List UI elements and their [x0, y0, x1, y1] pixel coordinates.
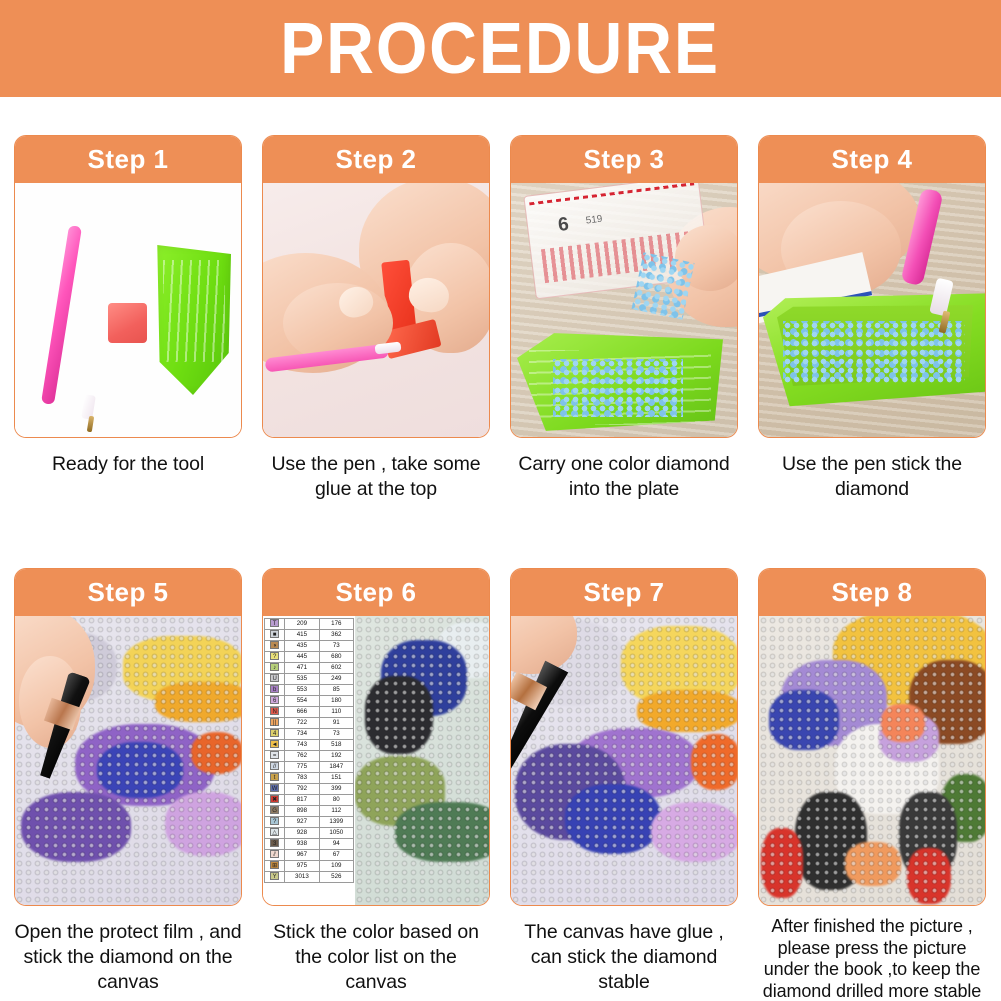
color-chart-count-cell: 73 [319, 729, 353, 740]
color-chart-code-cell: 938 [285, 839, 319, 850]
color-chart-table: T209176■415362◑43573?445680♪471602U53524… [264, 618, 354, 883]
color-chart-symbol-cell: U [265, 674, 285, 685]
color-chart-symbol-cell: ? [265, 817, 285, 828]
color-swatch-icon: // [270, 762, 279, 770]
step-8-frame: Step 8 [758, 568, 986, 906]
color-chart-symbol-cell: || [265, 718, 285, 729]
color-chart-symbol-cell: ✖ [265, 795, 285, 806]
color-chart-count-cell: 1847 [319, 762, 353, 773]
color-chart-count-cell: 602 [319, 663, 353, 674]
steps-row-top: Step 1 Ready for the tool Step 2 [14, 135, 987, 502]
color-chart-symbol-cell: 3 [265, 839, 285, 850]
step-7-caption: The canvas have glue , can stick the dia… [510, 920, 738, 995]
color-swatch-icon: ◑ [270, 641, 279, 649]
color-swatch-icon: ? [270, 817, 279, 825]
color-chart-code-cell: 666 [285, 707, 319, 718]
pink-pen-icon [41, 225, 82, 405]
color-swatch-icon: t [270, 773, 279, 781]
color-swatch-icon: b [270, 685, 279, 693]
color-chart-count-cell: 1399 [319, 817, 353, 828]
mosaic-canvas-illustration [15, 616, 241, 905]
step-7-badge: Step 7 [511, 569, 737, 616]
color-swatch-icon: 4 [270, 729, 279, 737]
color-chart-count-cell: 362 [319, 630, 353, 641]
color-chart-row: ?445680 [265, 652, 354, 663]
step-2-caption: Use the pen , take some glue at the top [262, 452, 490, 502]
color-chart-count-cell: 680 [319, 652, 353, 663]
step-1-frame: Step 1 [14, 135, 242, 438]
step-card-7: Step 7 [510, 568, 738, 1001]
color-chart-code-cell: 927 [285, 817, 319, 828]
color-chart-row: b55385 [265, 685, 354, 696]
color-chart-count-cell: 110 [319, 707, 353, 718]
color-chart-row: t783151 [265, 773, 354, 784]
step-2-frame: Step 2 [262, 135, 490, 438]
color-chart-symbol-cell: t [265, 773, 285, 784]
step-3-caption: Carry one color diamond into the plate [510, 452, 738, 502]
color-swatch-icon: ? [270, 652, 279, 660]
diamond-bead-grid [759, 616, 985, 905]
color-swatch-icon: ⫽ [270, 850, 279, 858]
color-symbol-chart: T209176■415362◑43573?445680♪471602U53524… [263, 616, 355, 905]
procedure-infographic: PROCEDURE Step 1 Ready for the tool [0, 0, 1001, 1001]
step-3-image: 6 519 [511, 183, 737, 437]
step-2-image [263, 183, 489, 437]
color-chart-code-cell: 535 [285, 674, 319, 685]
color-chart-row: ⊞975109 [265, 861, 354, 872]
color-chart-symbol-cell: W [265, 784, 285, 795]
step-card-4: Step 4 Use the pe [758, 135, 986, 502]
color-chart-count-cell: 526 [319, 872, 353, 883]
tools-illustration [15, 183, 241, 437]
step-5-badge: Step 5 [15, 569, 241, 616]
color-chart-row: =762192 [265, 751, 354, 762]
color-chart-row: N666110 [265, 707, 354, 718]
color-swatch-icon: T [270, 619, 279, 627]
color-chart-symbol-cell: ◑ [265, 641, 285, 652]
color-chart-row: T209176 [265, 619, 354, 630]
color-chart-code-cell: 554 [285, 696, 319, 707]
step-4-frame: Step 4 [758, 135, 986, 438]
green-tray-icon [155, 245, 231, 395]
color-chart-count-cell: 399 [319, 784, 353, 795]
color-chart-code-cell: 471 [285, 663, 319, 674]
color-chart-count-cell: 94 [319, 839, 353, 850]
color-chart-row: ■415362 [265, 630, 354, 641]
color-chart-row: ?9271399 [265, 817, 354, 828]
color-chart-row: ⫽96767 [265, 850, 354, 861]
color-chart-count-cell: 112 [319, 806, 353, 817]
step-1-image [15, 183, 241, 437]
step-2-badge: Step 2 [263, 136, 489, 183]
color-chart-row: W792399 [265, 784, 354, 795]
color-chart-symbol-cell: G [265, 806, 285, 817]
color-chart-code-cell: 775 [285, 762, 319, 773]
color-chart-count-cell: 67 [319, 850, 353, 861]
step-1-caption: Ready for the tool [14, 452, 242, 477]
color-chart-symbol-cell: ♪ [265, 663, 285, 674]
color-chart-symbol-cell: 4 [265, 729, 285, 740]
step-card-1: Step 1 Ready for the tool [14, 135, 242, 502]
finished-painting-illustration [759, 616, 985, 905]
diamond-bead-grid [355, 616, 489, 905]
color-chart-count-cell: 180 [319, 696, 353, 707]
wax-square-icon [108, 303, 147, 343]
color-chart-row: Y3013526 [265, 872, 354, 883]
step-5-image [15, 616, 241, 905]
color-chart-code-cell: 3013 [285, 872, 319, 883]
color-chart-row: ♪471602 [265, 663, 354, 674]
color-chart-row: ◄743518 [265, 740, 354, 751]
color-chart-symbol-cell: Y [265, 872, 285, 883]
step-7-image [511, 616, 737, 905]
color-chart-symbol-cell: N [265, 707, 285, 718]
page-header-banner: PROCEDURE [0, 0, 1001, 97]
color-chart-body: T209176■415362◑43573?445680♪471602U53524… [265, 619, 354, 883]
pen-tip-gold-icon [87, 416, 94, 433]
step-card-8: Step 8 [758, 568, 986, 1001]
step-4-image [759, 183, 985, 437]
step-8-badge: Step 8 [759, 569, 985, 616]
color-swatch-icon: || [270, 718, 279, 726]
step-1-badge: Step 1 [15, 136, 241, 183]
color-chart-symbol-cell: ◄ [265, 740, 285, 751]
step-6-frame: Step 6 T209176■415362◑43573?445680♪47160… [262, 568, 490, 906]
color-chart-code-cell: 762 [285, 751, 319, 762]
color-chart-symbol-cell: T [265, 619, 285, 630]
color-chart-count-cell: 109 [319, 861, 353, 872]
color-chart-symbol-cell: △ [265, 828, 285, 839]
color-swatch-icon: ✖ [270, 795, 279, 803]
color-chart-code-cell: 792 [285, 784, 319, 795]
color-chart-row: //7751847 [265, 762, 354, 773]
color-chart-count-cell: 192 [319, 751, 353, 762]
color-chart-code-cell: 722 [285, 718, 319, 729]
color-chart-row: 473473 [265, 729, 354, 740]
color-chart-code-cell: 435 [285, 641, 319, 652]
color-swatch-icon: G [270, 806, 279, 814]
step-card-5: Step 5 [14, 568, 242, 1001]
step-7-frame: Step 7 [510, 568, 738, 906]
color-chart-symbol-cell: = [265, 751, 285, 762]
color-chart-code-cell: 209 [285, 619, 319, 630]
color-chart-code-cell: 743 [285, 740, 319, 751]
color-chart-count-cell: 249 [319, 674, 353, 685]
color-chart-row: ◑43573 [265, 641, 354, 652]
color-chart-symbol-cell: 6 [265, 696, 285, 707]
color-swatch-icon: N [270, 707, 279, 715]
color-chart-count-cell: 176 [319, 619, 353, 630]
color-chart-row: ✖81780 [265, 795, 354, 806]
color-chart-count-cell: 73 [319, 641, 353, 652]
step-6-caption: Stick the color based on the color list … [262, 920, 490, 995]
color-chart-code-cell: 967 [285, 850, 319, 861]
glue-on-pen-illustration [263, 183, 489, 437]
color-chart-symbol-cell: ⊞ [265, 861, 285, 872]
step-8-image [759, 616, 985, 905]
diamonds-in-tray [553, 359, 683, 417]
mosaic-canvas-illustration [355, 616, 489, 905]
bag-number-label: 6 [557, 214, 570, 237]
color-swatch-icon: ■ [270, 630, 279, 638]
step-3-badge: Step 3 [511, 136, 737, 183]
color-swatch-icon: ⊞ [270, 861, 279, 869]
color-swatch-icon: ♪ [270, 663, 279, 671]
color-chart-code-cell: 975 [285, 861, 319, 872]
step-4-badge: Step 4 [759, 136, 985, 183]
step-card-6: Step 6 T209176■415362◑43573?445680♪47160… [262, 568, 490, 1001]
color-chart-row: U535249 [265, 674, 354, 685]
step-6-image: T209176■415362◑43573?445680♪471602U53524… [263, 616, 489, 905]
chart-and-canvas-illustration: T209176■415362◑43573?445680♪471602U53524… [263, 616, 489, 905]
color-chart-code-cell: 553 [285, 685, 319, 696]
color-swatch-icon: 3 [270, 839, 279, 847]
color-swatch-icon: U [270, 674, 279, 682]
color-chart-code-cell: 415 [285, 630, 319, 641]
color-chart-symbol-cell: ■ [265, 630, 285, 641]
page-title: PROCEDURE [281, 13, 721, 85]
color-chart-count-cell: 1050 [319, 828, 353, 839]
color-chart-row: 6554180 [265, 696, 354, 707]
color-chart-count-cell: 518 [319, 740, 353, 751]
color-chart-symbol-cell: ? [265, 652, 285, 663]
color-swatch-icon: = [270, 751, 279, 759]
color-chart-symbol-cell: // [265, 762, 285, 773]
color-chart-symbol-cell: ⫽ [265, 850, 285, 861]
pour-diamonds-illustration: 6 519 [511, 183, 737, 437]
color-chart-count-cell: 85 [319, 685, 353, 696]
color-swatch-icon: △ [270, 828, 279, 836]
step-card-3: Step 3 6 519 [510, 135, 738, 502]
color-swatch-icon: ◄ [270, 740, 279, 748]
step-5-caption: Open the protect film , and stick the di… [14, 920, 242, 995]
color-chart-row: △9281050 [265, 828, 354, 839]
bag-code-label: 519 [585, 214, 603, 227]
color-chart-row: G898112 [265, 806, 354, 817]
color-chart-row: ||72291 [265, 718, 354, 729]
step-8-caption: After finished the picture , please pres… [758, 916, 986, 1001]
color-swatch-icon: Y [270, 872, 279, 880]
color-chart-code-cell: 928 [285, 828, 319, 839]
color-chart-code-cell: 734 [285, 729, 319, 740]
color-swatch-icon: W [270, 784, 279, 792]
color-chart-symbol-cell: b [265, 685, 285, 696]
color-chart-code-cell: 817 [285, 795, 319, 806]
diamonds-in-tray [783, 321, 965, 383]
step-4-caption: Use the pen stick the diamond [758, 452, 986, 502]
steps-row-bottom: Step 5 [14, 568, 987, 1001]
pen-pick-diamond-illustration [759, 183, 985, 437]
color-chart-count-cell: 80 [319, 795, 353, 806]
color-chart-count-cell: 151 [319, 773, 353, 784]
color-chart-code-cell: 898 [285, 806, 319, 817]
step-6-badge: Step 6 [263, 569, 489, 616]
step-5-frame: Step 5 [14, 568, 242, 906]
color-chart-row: 393894 [265, 839, 354, 850]
color-chart-code-cell: 783 [285, 773, 319, 784]
step-3-frame: Step 3 6 519 [510, 135, 738, 438]
color-chart-count-cell: 91 [319, 718, 353, 729]
mosaic-canvas-illustration [511, 616, 737, 905]
color-chart-code-cell: 445 [285, 652, 319, 663]
color-swatch-icon: 6 [270, 696, 279, 704]
step-card-2: Step 2 Use the pe [262, 135, 490, 502]
